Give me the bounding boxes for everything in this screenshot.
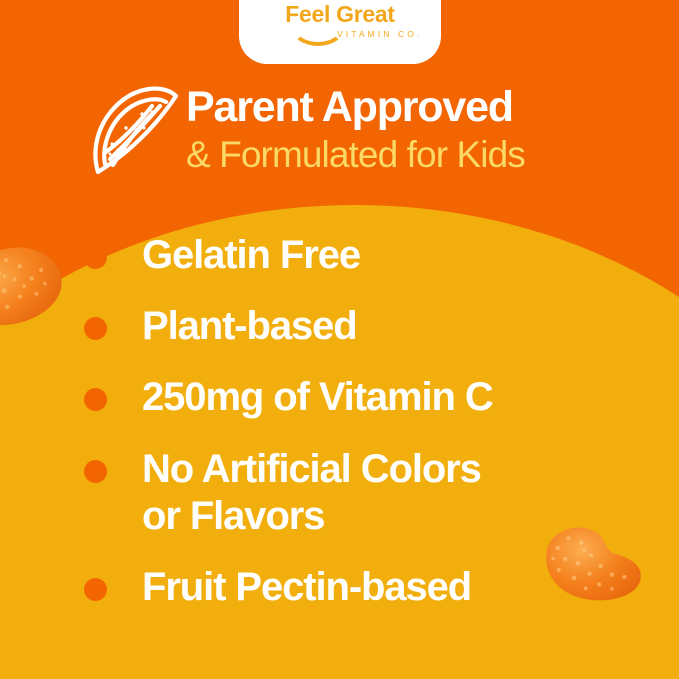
page-title: Parent Approved xyxy=(186,86,525,130)
benefit-label: Fruit Pectin-based xyxy=(142,564,471,611)
bullet-dot-icon xyxy=(84,317,107,340)
bullet-dot-icon xyxy=(84,578,107,601)
bullet-dot-icon xyxy=(84,460,107,483)
benefits-list: Gelatin Free Plant-based 250mg of Vitami… xyxy=(84,232,644,635)
product-benefits-infographic: Feel Great VITAMIN CO. Parent xyxy=(0,0,679,679)
list-item: Fruit Pectin-based xyxy=(84,564,644,611)
list-item: Gelatin Free xyxy=(84,232,644,279)
orange-slice-icon xyxy=(86,86,182,182)
benefit-label: Plant-based xyxy=(142,303,357,350)
list-item: Plant-based xyxy=(84,303,644,350)
list-item: No Artificial Colorsor Flavors xyxy=(84,446,644,540)
list-item: 250mg of Vitamin C xyxy=(84,374,644,421)
benefit-label: No Artificial Colorsor Flavors xyxy=(142,446,481,540)
headline-block: Parent Approved & Formulated for Kids xyxy=(186,86,525,175)
brand-logo-panel: Feel Great VITAMIN CO. xyxy=(239,0,441,64)
bullet-dot-icon xyxy=(84,388,107,411)
brand-subtext: VITAMIN CO. xyxy=(337,30,422,39)
brand-wordmark: Feel Great xyxy=(239,3,441,26)
benefit-label: Gelatin Free xyxy=(142,232,360,279)
benefit-label: 250mg of Vitamin C xyxy=(142,374,493,421)
bullet-dot-icon xyxy=(84,246,107,269)
page-subtitle: & Formulated for Kids xyxy=(186,136,525,175)
